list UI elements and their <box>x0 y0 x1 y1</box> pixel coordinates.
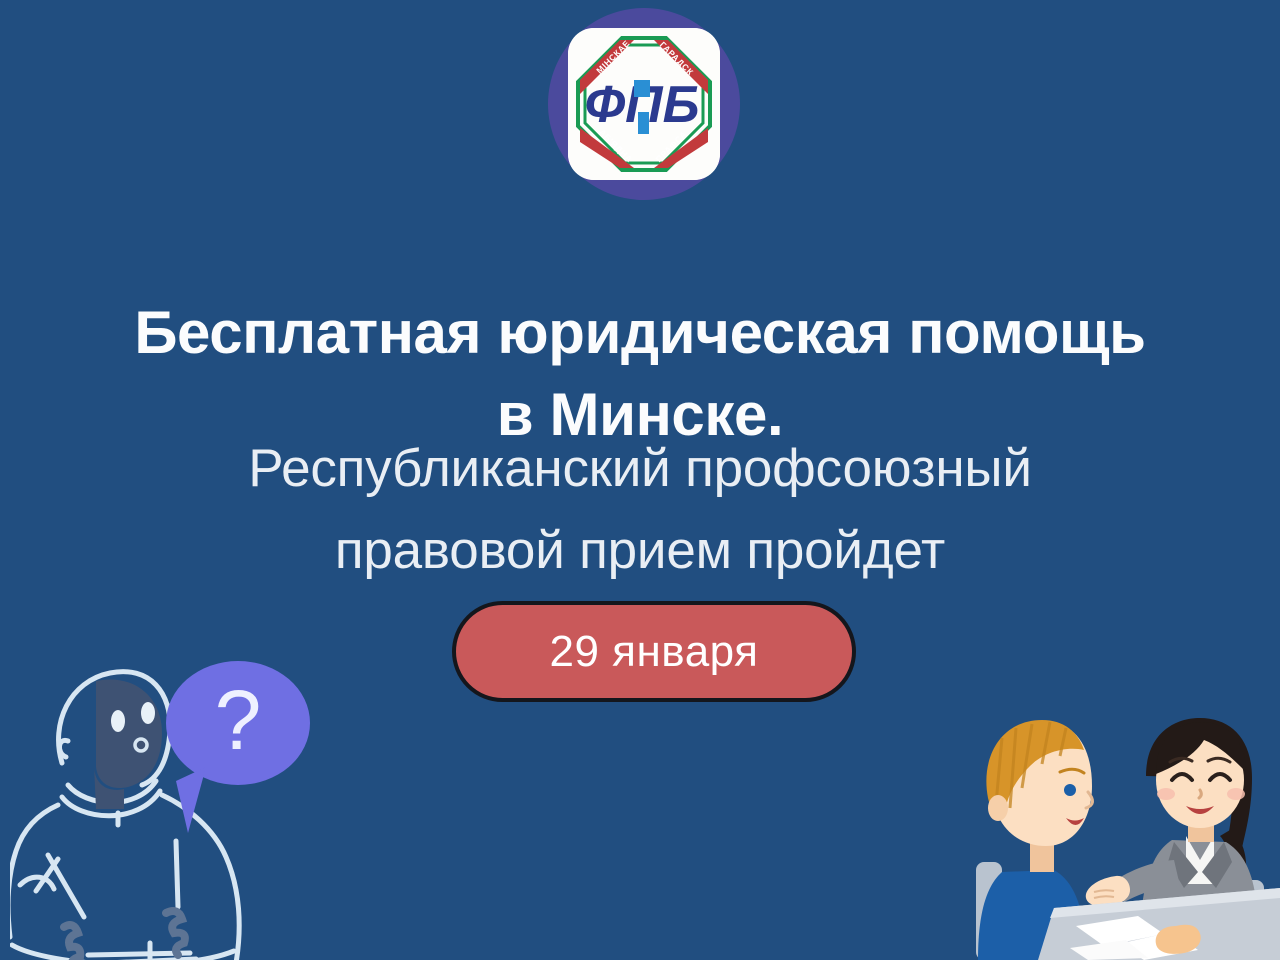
illustration-person-question: ? <box>10 645 380 960</box>
eye-right <box>141 702 155 724</box>
client-eye <box>1064 784 1076 796</box>
headline-line-1: Бесплатная юридическая помощь <box>134 299 1145 366</box>
subhead-line-2: правовой прием пройдет <box>60 510 1220 592</box>
subhead-line-1: Республиканский профсоюзный <box>248 439 1031 498</box>
logo-emblem-icon: МІНСКАЕ ГАРАДСКОЕ АБ'ЯДНАННЕ ПРАФСАЮЗАУ … <box>568 28 720 180</box>
organization-logo: МІНСКАЕ ГАРАДСКОЕ АБ'ЯДНАННЕ ПРАФСАЮЗАУ … <box>548 8 740 200</box>
logo-card: МІНСКАЕ ГАРАДСКОЕ АБ'ЯДНАННЕ ПРАФСАЮЗАУ … <box>568 28 720 180</box>
speech-bubble: ? <box>166 661 310 833</box>
poster-canvas: МІНСКАЕ ГАРАДСКОЕ АБ'ЯДНАННЕ ПРАФСАЮЗАУ … <box>0 0 1280 960</box>
illustration-legal-consultation <box>958 712 1280 960</box>
logo-monogram: ФПБ <box>585 76 700 134</box>
date-badge-label: 29 января <box>550 627 759 677</box>
page-subtitle: Республиканский профсоюзный правовой при… <box>0 428 1280 592</box>
date-badge[interactable]: 29 января <box>452 601 856 702</box>
consultation-scene-icon <box>958 712 1280 960</box>
eye-left <box>111 710 125 732</box>
question-mark-icon: ? <box>215 673 262 767</box>
line-art-person-icon: ? <box>10 645 380 960</box>
